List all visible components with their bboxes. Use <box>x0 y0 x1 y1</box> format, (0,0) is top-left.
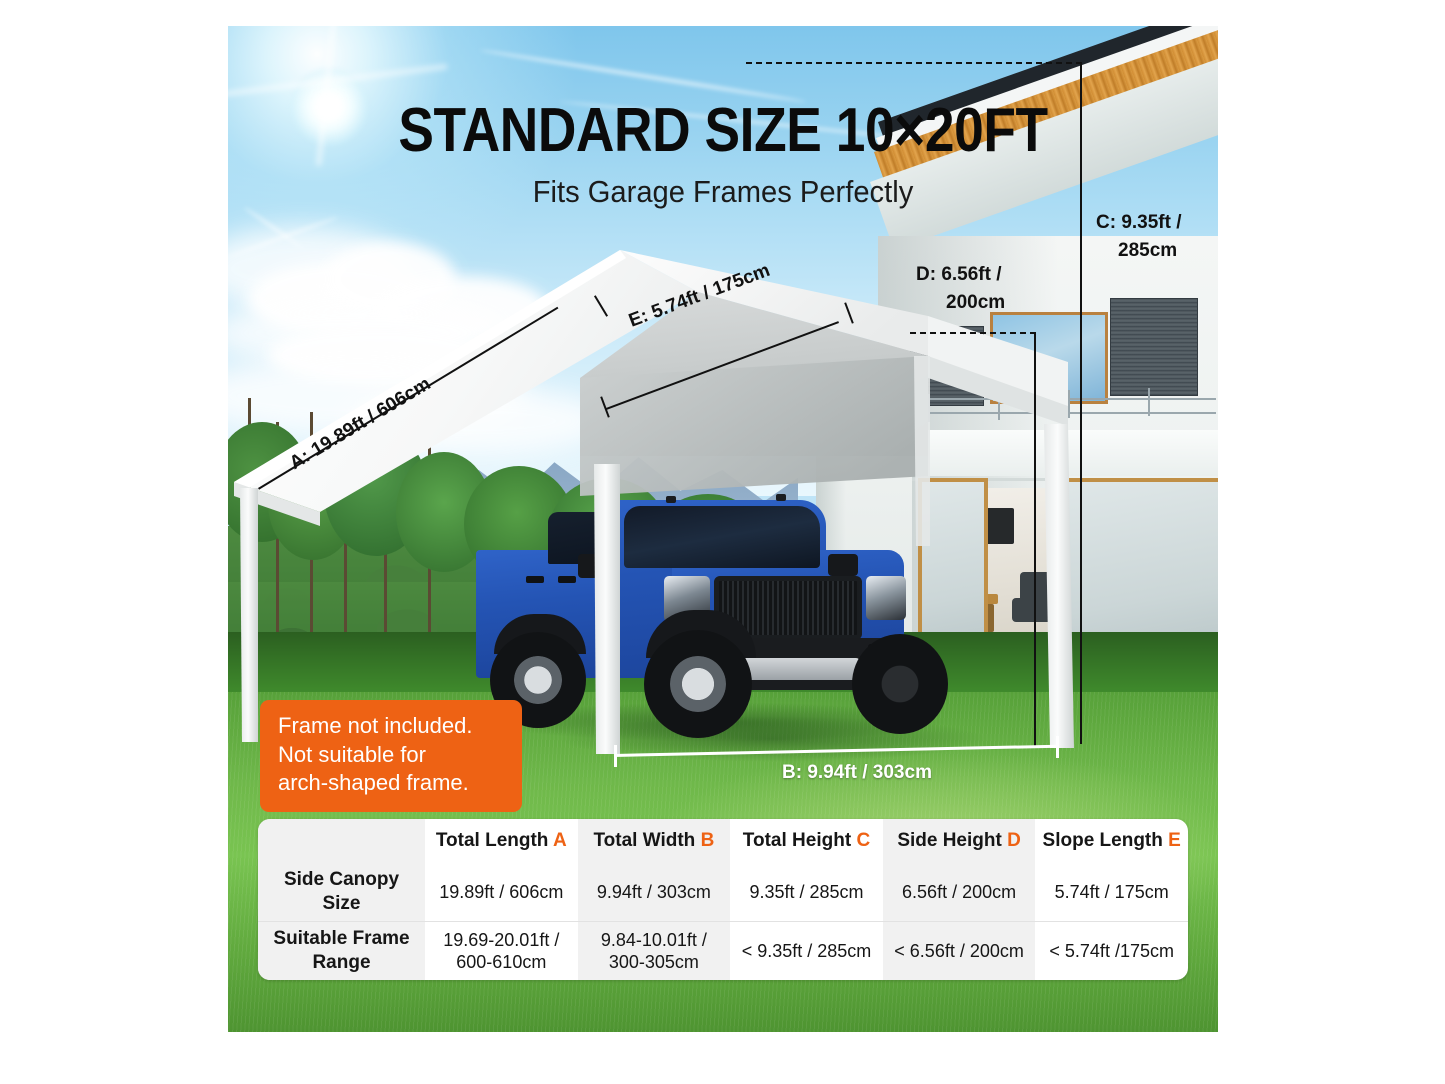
row-header-canopy-size: Side Canopy Size <box>258 863 425 922</box>
pickup-truck <box>476 472 946 742</box>
title-block: STANDARD SIZE 10×20FT Fits Garage Frames… <box>228 100 1218 210</box>
note-line-2: Not suitable for <box>278 741 506 770</box>
page-subtitle: Fits Garage Frames Perfectly <box>258 174 1189 210</box>
table-header-row: Total Length A Total Width B Total Heigh… <box>258 819 1188 863</box>
cell-line-1: < 9.35ft / 285cm <box>731 940 882 963</box>
row-header-line-1: Suitable Frame <box>259 927 424 951</box>
cell-line-2: 300-305cm <box>579 951 730 974</box>
dimension-label-D-line1: D: 6.56ft / <box>916 264 1002 286</box>
cell-r0-E: 5.74ft / 175cm <box>1035 863 1188 922</box>
dimension-dash-C-top <box>746 62 1082 64</box>
balcony-railing <box>898 398 1216 400</box>
dimension-label-B: B: 9.94ft / 303cm <box>782 762 932 784</box>
cell-line-1: < 6.56ft / 200cm <box>884 940 1035 963</box>
spec-table: Total Length A Total Width B Total Heigh… <box>258 819 1188 980</box>
upper-window <box>990 312 1108 404</box>
cell-line-1: 9.35ft / 285cm <box>731 881 882 904</box>
page-title: STANDARD SIZE 10×20FT <box>297 100 1148 162</box>
header-text-D: Side Height <box>897 830 1007 851</box>
wheel-rim <box>514 656 562 704</box>
railing-post <box>998 392 1000 420</box>
cell-r0-A: 19.89ft / 606cm <box>425 863 578 922</box>
warning-note: Frame not included. Not suitable for arc… <box>260 700 522 812</box>
header-letter-D: D <box>1007 830 1021 851</box>
cell-line-1: < 5.74ft /175cm <box>1036 940 1187 963</box>
spec-table-grid: Total Length A Total Width B Total Heigh… <box>258 819 1188 980</box>
header-text-C: Total Height <box>743 830 857 851</box>
dimension-line-D <box>1034 332 1036 746</box>
cell-r1-C: < 9.35ft / 285cm <box>730 922 883 981</box>
cell-r1-E: < 5.74ft /175cm <box>1035 922 1188 981</box>
cell-r0-D: 6.56ft / 200cm <box>883 863 1036 922</box>
window-louver <box>1110 298 1198 396</box>
table-row: Side Canopy Size 19.89ft / 606cm 9.94ft … <box>258 863 1188 922</box>
side-mirror <box>828 554 858 576</box>
headlight-right <box>866 576 906 620</box>
header-letter-E: E <box>1168 830 1181 851</box>
door-handle <box>526 576 544 583</box>
cell-r1-A: 19.69-20.01ft / 600-610cm <box>425 922 578 981</box>
balcony-railing <box>898 412 1216 414</box>
cell-line-1: 9.94ft / 303cm <box>579 881 730 904</box>
row-header-line-2: Range <box>259 951 424 975</box>
table-header-C: Total Height C <box>730 819 883 863</box>
note-line-3: arch-shaped frame. <box>278 769 506 798</box>
dimension-label-D-line2: 200cm <box>946 292 1005 314</box>
header-text-E: Slope Length <box>1043 830 1169 851</box>
roof-marker <box>776 494 786 501</box>
cell-line-1: 6.56ft / 200cm <box>884 881 1035 904</box>
cell-r0-B: 9.94ft / 303cm <box>578 863 731 922</box>
cell-r0-C: 9.35ft / 285cm <box>730 863 883 922</box>
note-line-1: Frame not included. <box>278 712 506 741</box>
row-header-line-1: Side Canopy <box>259 868 424 892</box>
header-text-B: Total Width <box>593 830 700 851</box>
dimension-tick-B-start <box>614 745 617 767</box>
cell-line-1: 9.84-10.01ft / <box>579 929 730 952</box>
row-header-frame-range: Suitable Frame Range <box>258 922 425 981</box>
table-header-A: Total Length A <box>425 819 578 863</box>
window-louver <box>910 326 984 406</box>
dimension-label-C-line2: 285cm <box>1118 240 1177 262</box>
table-header-D: Side Height D <box>883 819 1036 863</box>
cell-line-2: 600-610cm <box>426 951 577 974</box>
roof-marker <box>666 496 676 503</box>
dimension-label-C-line1: C: 9.35ft / <box>1096 212 1182 234</box>
table-corner-cell <box>258 819 425 863</box>
railing-post <box>928 394 930 422</box>
header-text-A: Total Length <box>436 830 553 851</box>
railing-post <box>1068 390 1070 418</box>
product-photo: STANDARD SIZE 10×20FT Fits Garage Frames… <box>228 26 1218 1032</box>
windshield <box>624 506 820 568</box>
cell-r1-D: < 6.56ft / 200cm <box>883 922 1036 981</box>
dimension-dash-D-top <box>910 332 1036 334</box>
table-header-B: Total Width B <box>578 819 731 863</box>
row-header-line-2: Size <box>259 892 424 916</box>
infographic-canvas: STANDARD SIZE 10×20FT Fits Garage Frames… <box>0 0 1445 1084</box>
header-letter-A: A <box>553 830 567 851</box>
cell-r1-B: 9.84-10.01ft / 300-305cm <box>578 922 731 981</box>
cell-line-1: 19.89ft / 606cm <box>426 881 577 904</box>
wheel-front-right <box>852 634 948 734</box>
wheel-rim <box>670 656 726 712</box>
cell-line-1: 19.69-20.01ft / <box>426 929 577 952</box>
dimension-line-C <box>1080 62 1082 744</box>
header-letter-C: C <box>856 830 870 851</box>
door-handle <box>558 576 576 583</box>
dimension-tick-B-end <box>1056 736 1059 758</box>
railing-post <box>1148 388 1150 416</box>
cell-line-1: 5.74ft / 175cm <box>1036 881 1187 904</box>
header-letter-B: B <box>701 830 715 851</box>
table-row: Suitable Frame Range 19.69-20.01ft / 600… <box>258 922 1188 981</box>
facade-band <box>878 430 1218 476</box>
side-mirror <box>578 554 614 578</box>
table-header-E: Slope Length E <box>1035 819 1188 863</box>
